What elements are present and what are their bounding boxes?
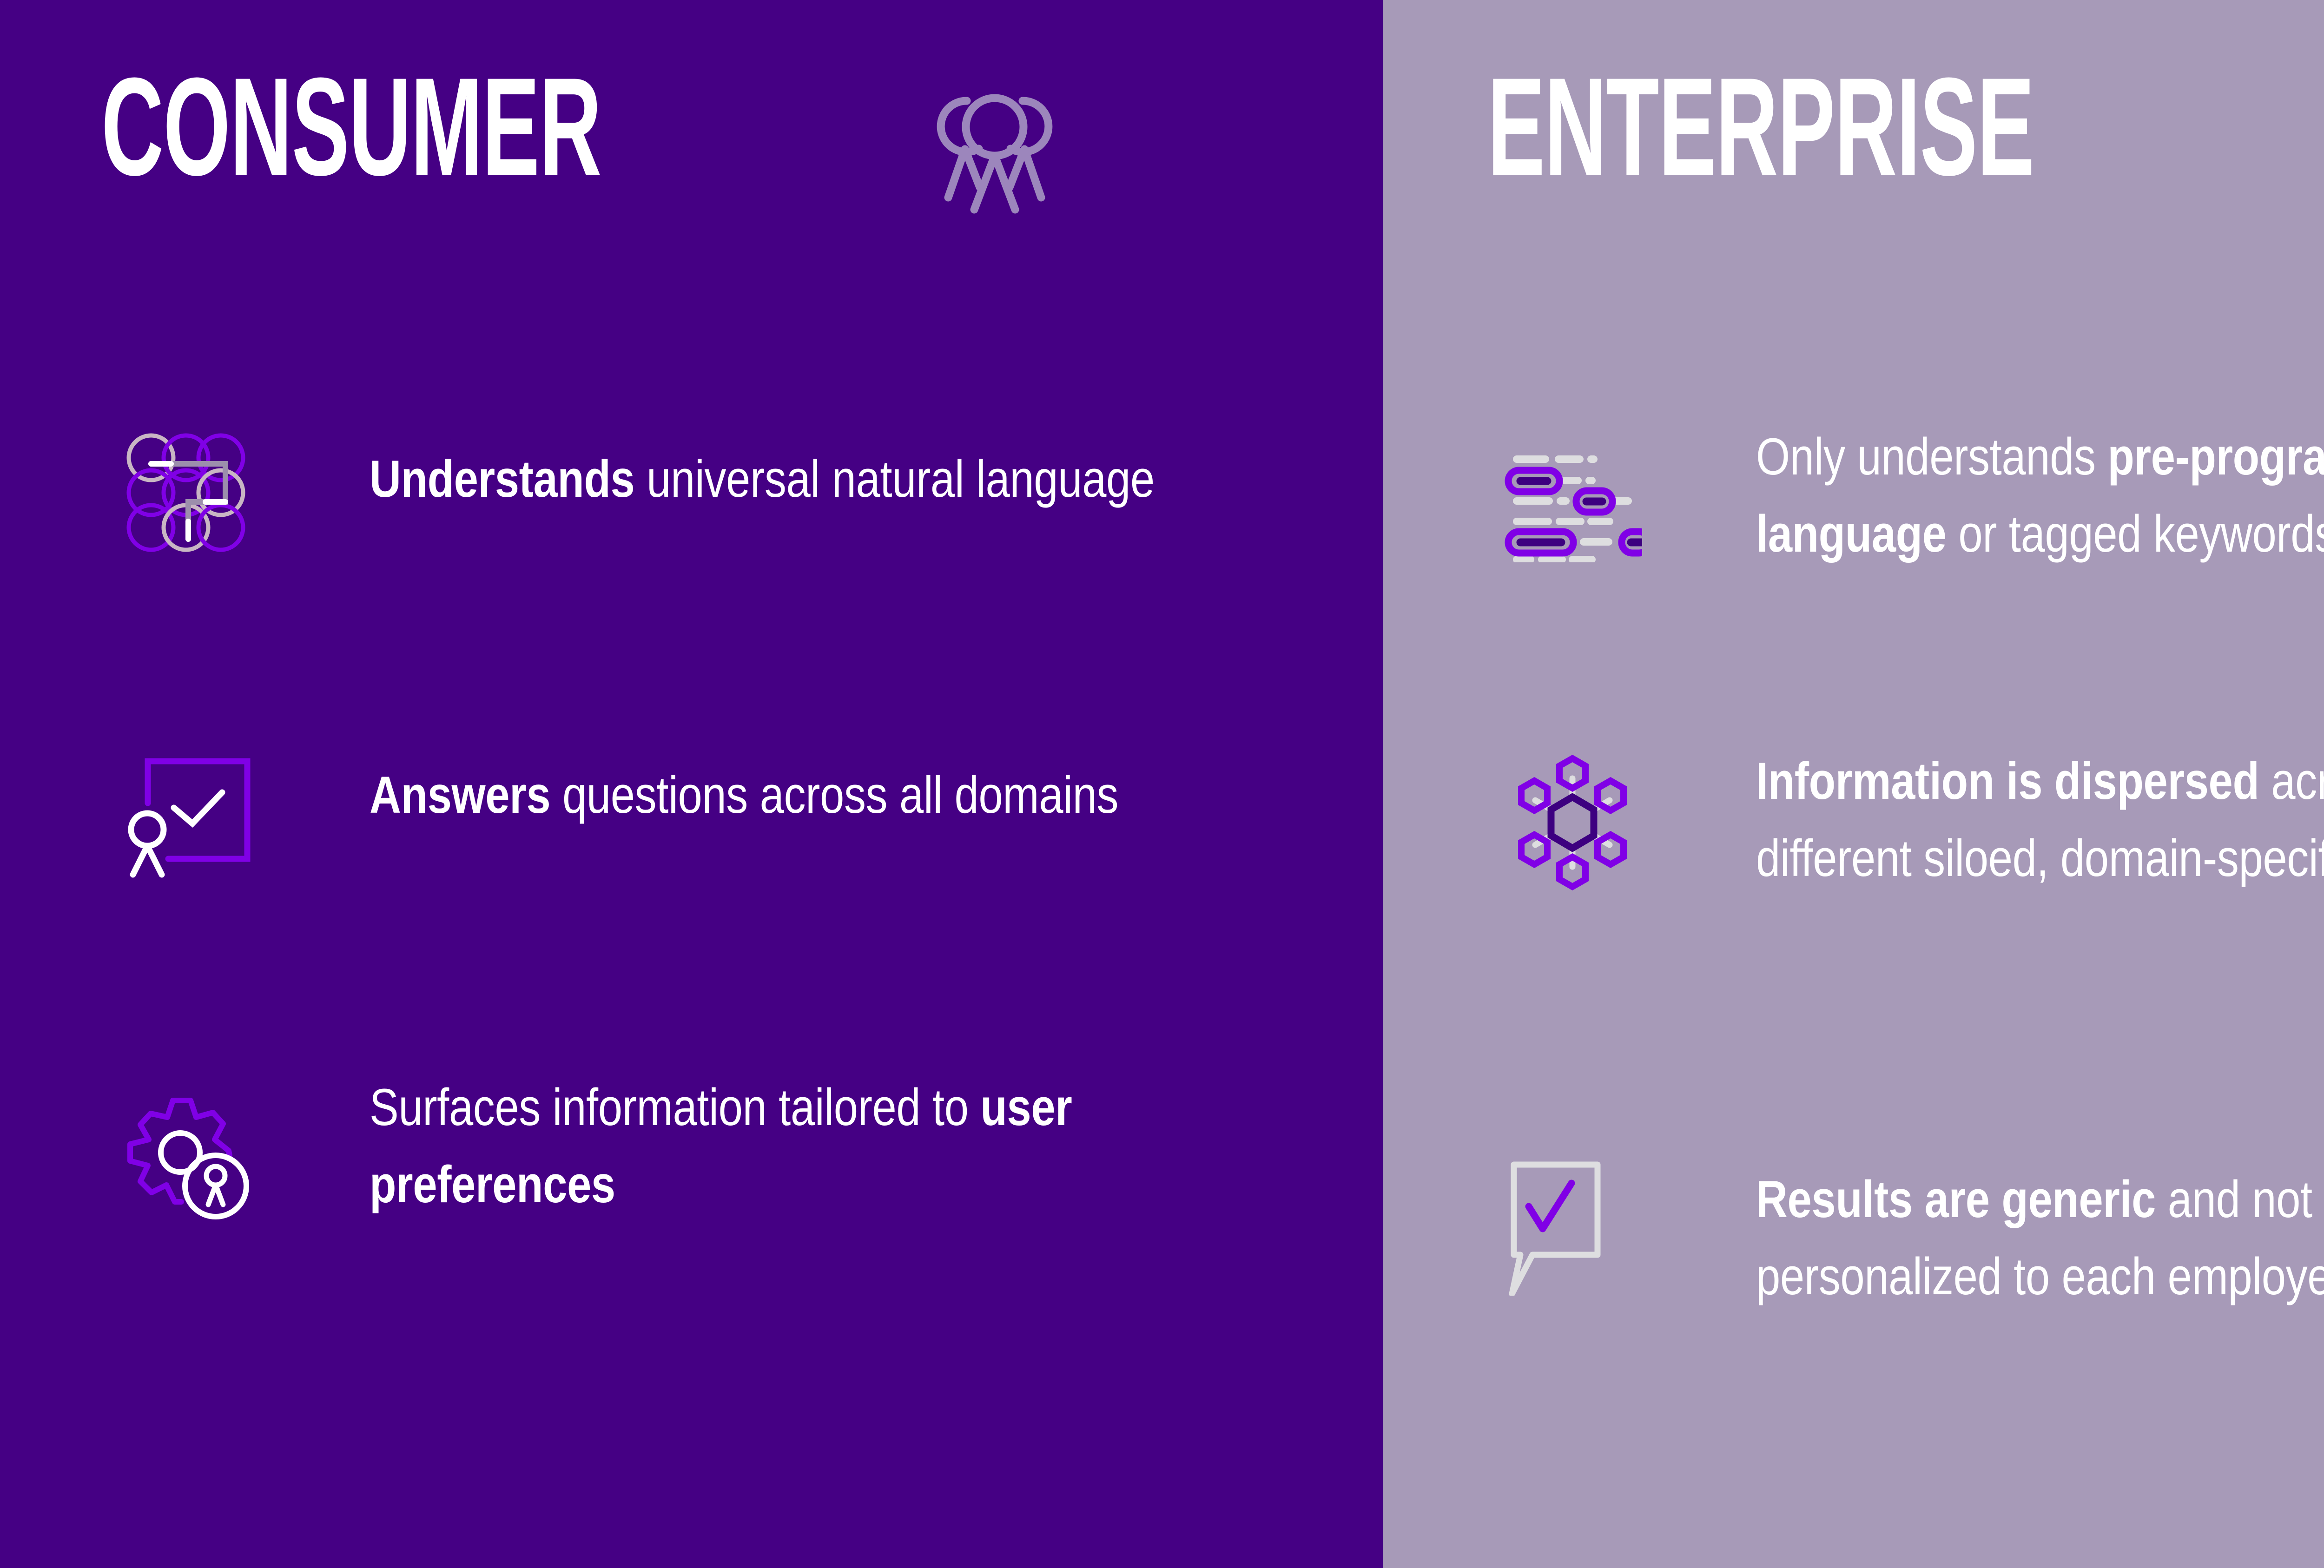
enterprise-feature-row-1: Information is dispersed across many dif… (1503, 730, 2324, 897)
consumer-title-wrap: CONSUMER (101, 65, 905, 188)
consumer-feature-row-0: Understands universal natural language (116, 414, 1325, 562)
enterprise-feature-suffix-0: or tagged keywords (1947, 505, 2324, 563)
consumer-feature-row-1: Answers questions across all domains (116, 730, 1325, 878)
person-checkmark-square-icon (116, 730, 270, 878)
consumer-feature-rest-1: questions across all domains (550, 766, 1118, 824)
consumer-feature-row-2: Surfaces information tailored to user pr… (116, 1064, 1325, 1223)
enterprise-feature-text-1: Information is dispersed across many dif… (1756, 730, 2324, 897)
enterprise-feature-prefix-0: Only understands (1756, 428, 2107, 486)
enterprise-feature-bold-1: Information is dispersed (1756, 752, 2259, 810)
circle-grid-network-icon (116, 414, 270, 562)
hexagon-network-icon (1503, 730, 1656, 892)
consumer-feature-prefix-2: Surfaces information tailored to (370, 1078, 980, 1136)
consumer-feature-text-2: Surfaces information tailored to user pr… (370, 1064, 1172, 1223)
enterprise-header: ENTERPRISE (1487, 65, 2324, 220)
consumer-panel: CONSUMER (0, 0, 1383, 1568)
consumer-feature-text-0: Understands universal natural language (370, 414, 1172, 518)
enterprise-feature-row-0: Only understands pre-programmed language… (1503, 414, 2324, 573)
comparison-slide: CONSUMER (0, 0, 2324, 1568)
consumer-feature-bold-0: Understands (370, 450, 634, 508)
enterprise-title-wrap: ENTERPRISE (1487, 65, 2324, 188)
enterprise-feature-bold-2: Results are generic (1756, 1170, 2156, 1228)
enterprise-feature-text-2: Results are generic and not personalized… (1756, 1143, 2324, 1315)
tagged-code-lines-icon (1503, 414, 1656, 562)
enterprise-panel: ENTERPRISE (1383, 0, 2324, 1568)
speech-bubble-checkmark-icon (1503, 1143, 1656, 1296)
consumer-feature-bold-1: Answers (370, 766, 550, 824)
consumer-feature-text-1: Answers questions across all domains (370, 730, 1172, 834)
consumer-feature-rest-0: universal natural language (634, 450, 1154, 508)
enterprise-title: ENTERPRISE (1487, 65, 2032, 188)
three-people-icon (924, 77, 1063, 218)
gear-person-icon (116, 1064, 270, 1222)
enterprise-feature-row-2: Results are generic and not personalized… (1503, 1143, 2324, 1315)
enterprise-feature-text-0: Only understands pre-programmed language… (1756, 414, 2324, 573)
consumer-title: CONSUMER (101, 65, 600, 188)
consumer-header: CONSUMER (101, 65, 1063, 218)
